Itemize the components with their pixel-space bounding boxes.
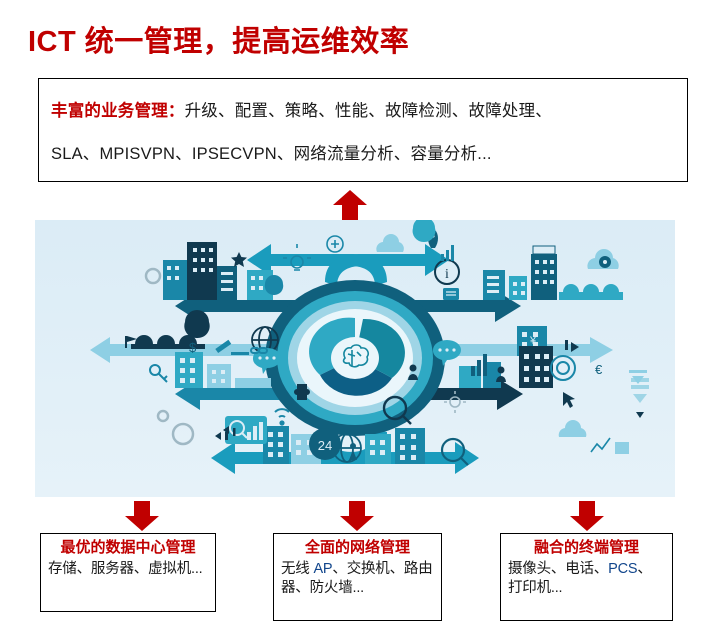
center-ring-group xyxy=(265,280,445,436)
dollar-icon: $ xyxy=(189,340,197,355)
ict-infographic-image: i xyxy=(35,220,675,497)
box-1-body: 存储、服务器、虚拟机... xyxy=(48,560,208,579)
magnifier-chart-icon xyxy=(225,416,267,444)
percent-pin-icon xyxy=(413,220,436,242)
box-1-body-pre: 存储、服务器、虚拟机 xyxy=(48,561,191,577)
box-1-body-post: ... xyxy=(191,561,203,577)
euro-icon: € xyxy=(595,362,603,377)
box-3-body-token: PCS xyxy=(608,561,637,577)
location-pin-icon xyxy=(184,310,209,338)
down-arrow-icon-3 xyxy=(570,501,604,531)
callout-line-1: 丰富的业务管理：升级、配置、策略、性能、故障检测、故障处理、 xyxy=(51,97,552,121)
down-arrow-icon-1 xyxy=(125,501,159,531)
box-2-body: 无线 AP、交换机、路由器、防火墙... xyxy=(281,560,434,598)
info-letter: i xyxy=(445,267,449,282)
callout-heading: 丰富的业务管理 xyxy=(51,102,168,120)
box-3-body-pre: 摄像头、电话、 xyxy=(508,561,608,577)
box-3-heading: 融合的终端管理 xyxy=(508,539,665,558)
svg-text:¥: ¥ xyxy=(529,335,537,347)
svg-text:24: 24 xyxy=(318,438,332,453)
callout-line-1-rest: 升级、配置、策略、性能、故障检测、故障处理、 xyxy=(185,102,552,120)
callout-line-2: SLA、MPISVPN、IPSECVPN、网络流量分析、容量分析... xyxy=(51,140,492,164)
box-2-heading: 全面的网络管理 xyxy=(281,539,434,558)
box-3-body: 摄像头、电话、PCS、打印机... xyxy=(508,560,665,598)
box-2-body-token: AP xyxy=(313,561,332,577)
yen-icon: ¥ xyxy=(529,335,537,347)
terminal-management-box: 融合的终端管理 摄像头、电话、PCS、打印机... xyxy=(500,533,673,621)
svg-text:$: $ xyxy=(189,340,197,355)
clock-24-icon: 24 xyxy=(309,428,341,460)
document-icon xyxy=(443,288,459,300)
down-arrow-icon-2 xyxy=(340,501,374,531)
box-1-heading: 最优的数据中心管理 xyxy=(48,539,208,558)
lock-icon xyxy=(265,275,283,295)
box-2-body-pre: 无线 xyxy=(281,561,313,577)
callout-colon: ： xyxy=(168,102,185,120)
up-arrow-icon xyxy=(333,190,367,220)
business-management-callout: 丰富的业务管理：升级、配置、策略、性能、故障检测、故障处理、 SLA、MPISV… xyxy=(38,78,688,182)
datacenter-management-box: 最优的数据中心管理 存储、服务器、虚拟机... xyxy=(40,533,216,612)
svg-text:€: € xyxy=(595,362,603,377)
network-management-box: 全面的网络管理 无线 AP、交换机、路由器、防火墙... xyxy=(273,533,442,621)
page-title: ICT 统一管理，提高运维效率 xyxy=(28,18,409,60)
infographic-artwork: i xyxy=(35,220,675,497)
